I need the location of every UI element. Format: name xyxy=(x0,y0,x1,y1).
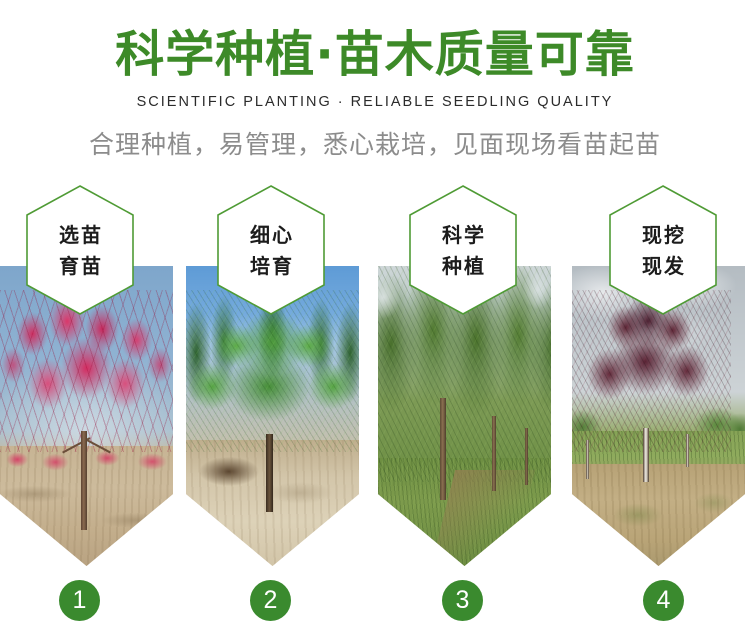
badge-line-2: 现发 xyxy=(640,255,686,277)
header-section: 科学种植·苗木质量可靠 SCIENTIFIC PLANTING · RELIAB… xyxy=(0,0,750,180)
photo-dirt-texture xyxy=(572,464,745,566)
photo-trunk-mid xyxy=(492,416,496,491)
photo-trunk-left xyxy=(586,440,589,479)
badge-line-2: 育苗 xyxy=(57,255,103,277)
photo-trunk xyxy=(643,428,649,482)
step-badge-2[interactable]: 细心 培育 xyxy=(217,185,325,315)
page-title: 科学种植·苗木质量可靠 xyxy=(0,28,750,82)
step-number-4: 4 xyxy=(643,580,684,621)
step-badge-3[interactable]: 科学 种植 xyxy=(409,185,517,315)
step-number-1: 1 xyxy=(59,580,100,621)
photo-shrub xyxy=(131,515,166,548)
step-badge-label-3: 科学 种植 xyxy=(409,185,517,315)
step-badge-1[interactable]: 选苗 育苗 xyxy=(26,185,134,315)
step-badge-label-2: 细心 培育 xyxy=(217,185,325,315)
step-badge-4[interactable]: 现挖 现发 xyxy=(609,185,717,315)
badge-line-2: 种植 xyxy=(440,255,486,277)
step-badge-label-1: 选苗 育苗 xyxy=(26,185,134,315)
badge-line-1: 选苗 xyxy=(57,224,103,246)
page-tagline: 合理种植，易管理，悉心栽培，见面现场看苗起苗 xyxy=(0,128,750,162)
photo-trunk-right xyxy=(686,434,688,467)
badge-line-1: 现挖 xyxy=(640,224,686,246)
badge-line-2: 培育 xyxy=(248,255,294,277)
step-number-3: 3 xyxy=(442,580,483,621)
badge-line-1: 科学 xyxy=(440,224,486,246)
step-number-2: 2 xyxy=(250,580,291,621)
photo-trunk-near xyxy=(440,398,446,500)
photo-trunk xyxy=(81,431,87,530)
photo-trunk xyxy=(266,434,273,512)
badge-line-1: 细心 xyxy=(248,224,294,246)
step-badge-label-4: 现挖 现发 xyxy=(609,185,717,315)
page-subtitle-en: SCIENTIFIC PLANTING · RELIABLE SEEDLING … xyxy=(0,93,750,111)
photo-trunk-far xyxy=(525,428,528,485)
